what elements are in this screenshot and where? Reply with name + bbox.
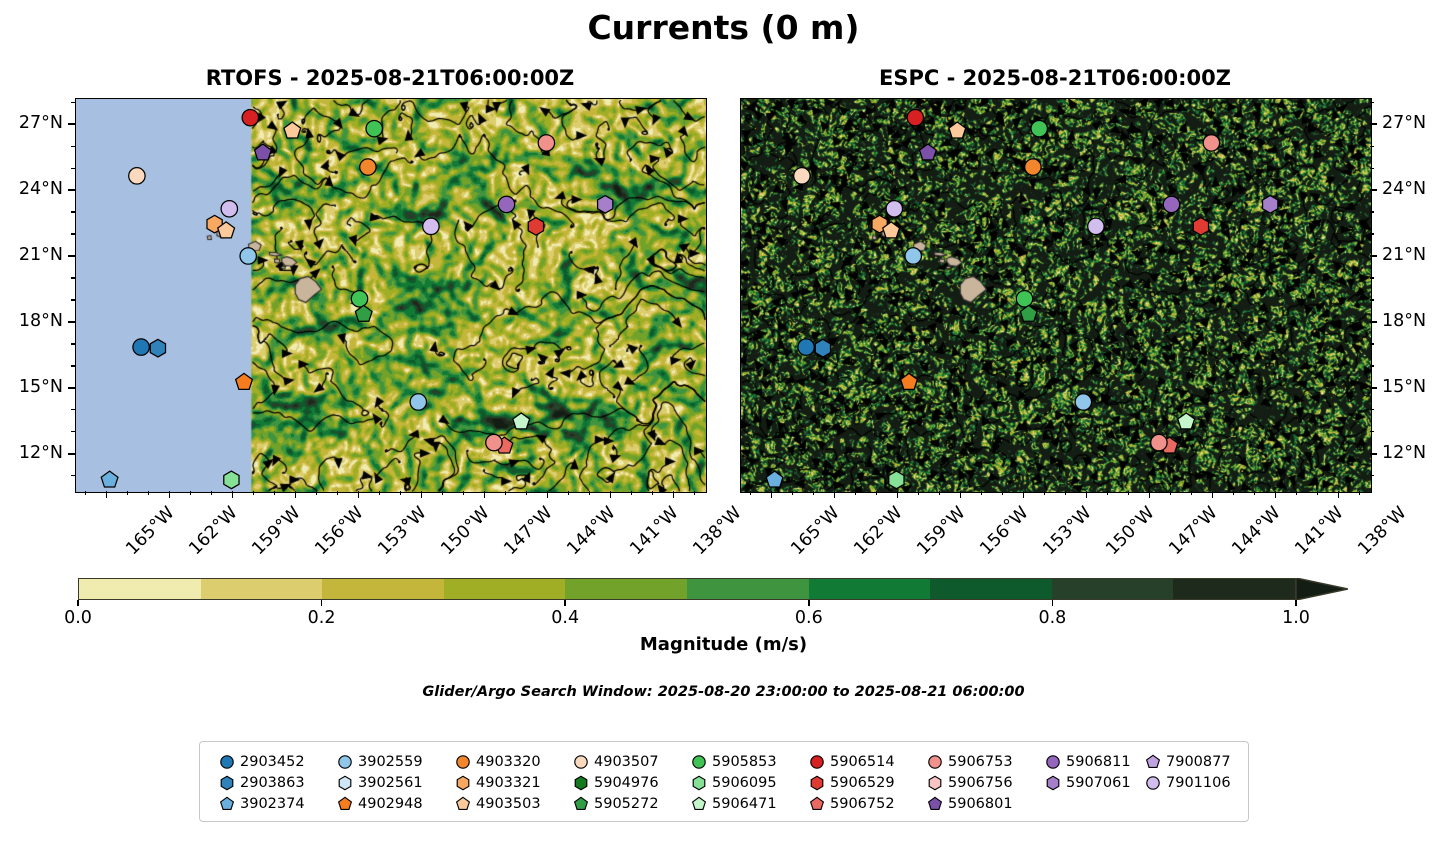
legend-label: 5906753 — [948, 754, 1013, 770]
y-minor-tickmark — [71, 211, 75, 212]
x-tick-label: 156°W — [976, 503, 1032, 559]
x-tick-label: 165°W — [122, 503, 178, 559]
pentagon-marker-icon — [336, 795, 354, 813]
legend-entry[interactable]: 7900877 — [1140, 751, 1240, 772]
float-marker[interactable] — [1193, 218, 1208, 236]
colorbar-gradient — [78, 578, 1296, 600]
circle-marker-icon — [1044, 753, 1062, 771]
colorbar-tick-label: 0.8 — [1034, 608, 1070, 628]
legend-label: 5905853 — [712, 754, 777, 770]
legend-entry[interactable]: 5906811 — [1040, 751, 1140, 772]
x-tick-label: 144°W — [1228, 503, 1284, 559]
colorbar-extend-arrow — [1296, 578, 1348, 600]
float-marker[interactable] — [1031, 120, 1047, 136]
x-minor-tickmark — [85, 491, 86, 495]
x-minor-tickmark — [211, 491, 212, 495]
float-marker[interactable] — [486, 434, 502, 450]
colorbar-segment — [201, 579, 323, 599]
y-tickmark — [68, 453, 75, 455]
x-minor-tickmark — [1359, 491, 1360, 495]
y-minor-tickmark — [1370, 146, 1374, 147]
x-minor-tickmark — [813, 491, 814, 495]
x-tickmark — [547, 491, 549, 498]
legend-symbol — [922, 774, 948, 792]
circle-marker-icon — [572, 753, 590, 771]
x-minor-tickmark — [981, 491, 982, 495]
hexagon-marker-icon — [1044, 774, 1062, 792]
pentagon-marker-icon — [454, 795, 472, 813]
legend-label: 3902561 — [358, 775, 423, 791]
x-minor-tickmark — [127, 491, 128, 495]
pentagon-marker-icon — [572, 795, 590, 813]
legend-entry[interactable]: 5905853 — [686, 751, 804, 772]
y-tickmark — [68, 321, 75, 323]
figure-suptitle: Currents (0 m) — [0, 8, 1447, 47]
x-minor-tickmark — [190, 491, 191, 495]
float-marker[interactable] — [1016, 291, 1032, 307]
colorbar-segment — [930, 579, 1052, 599]
legend-symbol — [1140, 753, 1166, 771]
y-minor-tickmark — [71, 431, 75, 432]
legend-symbol — [686, 753, 712, 771]
legend-entry[interactable]: 2903452 — [214, 751, 332, 772]
legend-label: 5906095 — [712, 775, 777, 791]
float-marker[interactable] — [1163, 196, 1179, 212]
legend-entry[interactable]: 4903507 — [568, 751, 686, 772]
x-tick-label: 138°W — [689, 503, 745, 559]
legend-label: 5907061 — [1066, 775, 1131, 791]
panel-title-espc: ESPC - 2025-08-21T06:00:00Z — [740, 66, 1370, 90]
x-minor-tickmark — [1065, 491, 1066, 495]
x-minor-tickmark — [1296, 491, 1297, 495]
legend-label: 4903320 — [476, 754, 541, 770]
pentagon-marker-icon — [218, 795, 236, 813]
float-marker[interactable] — [1088, 218, 1104, 234]
hexagon-marker-icon — [808, 774, 826, 792]
y-tick-label: 21°N — [1382, 245, 1426, 265]
float-marker[interactable] — [1203, 135, 1219, 151]
legend-symbol — [332, 774, 358, 792]
legend-label: 5906756 — [948, 775, 1013, 791]
y-tick-label: 18°N — [1382, 311, 1426, 331]
y-tick-label: 12°N — [0, 443, 63, 463]
legend-symbol — [568, 795, 594, 813]
x-tick-label: 147°W — [500, 503, 556, 559]
y-tickmark — [68, 387, 75, 389]
y-minor-tickmark — [71, 102, 75, 103]
legend-column: 290345229038633902374 — [214, 751, 332, 814]
legend-entry[interactable]: 5906753 — [922, 751, 1040, 772]
colorbar-segment — [809, 579, 931, 599]
circle-marker-icon — [454, 753, 472, 771]
y-tick-label: 15°N — [0, 377, 63, 397]
circle-marker-icon — [690, 753, 708, 771]
colorbar-tick-label: 0.0 — [60, 608, 96, 628]
legend-symbol — [804, 774, 830, 792]
float-marker[interactable] — [889, 471, 904, 489]
hexagon-marker-icon — [454, 774, 472, 792]
x-tickmark — [1023, 491, 1025, 498]
x-minor-tickmark — [1170, 491, 1171, 495]
float-marker-layer — [741, 99, 1371, 492]
x-minor-tickmark — [1191, 491, 1192, 495]
legend-entry[interactable]: 5906529 — [804, 772, 922, 793]
legend-entry[interactable]: 5904976 — [568, 772, 686, 793]
x-minor-tickmark — [463, 491, 464, 495]
pentagon-marker-icon — [1144, 753, 1162, 771]
legend-symbol — [332, 795, 358, 813]
x-tick-label: 147°W — [1165, 503, 1221, 559]
float-marker[interactable] — [1178, 413, 1195, 429]
legend-symbol — [922, 795, 948, 813]
y-minor-tickmark — [71, 146, 75, 147]
legend-column: 490332049033214903503 — [450, 751, 568, 814]
x-tick-label: 162°W — [185, 503, 241, 559]
x-tickmark — [673, 491, 675, 498]
legend-label: 5906752 — [830, 796, 895, 812]
y-minor-tickmark — [71, 299, 75, 300]
legend-label: 2903863 — [240, 775, 305, 791]
legend-entry[interactable]: 4903503 — [450, 793, 568, 814]
legend-entry[interactable]: 2903863 — [214, 772, 332, 793]
legend-column: 79008777901106 — [1140, 751, 1240, 814]
float-marker[interactable] — [1020, 305, 1037, 321]
x-tickmark — [106, 491, 108, 498]
float-marker[interactable] — [360, 159, 376, 175]
legend-entry[interactable]: 5906801 — [922, 793, 1040, 814]
colorbar-tickmark — [808, 600, 810, 606]
legend-label: 4902948 — [358, 796, 423, 812]
float-marker[interactable] — [1075, 394, 1091, 410]
legend-label: 4903503 — [476, 796, 541, 812]
pentagon-marker-icon — [808, 795, 826, 813]
x-tick-label: 156°W — [311, 503, 367, 559]
colorbar-segment — [1173, 579, 1295, 599]
x-minor-tickmark — [316, 491, 317, 495]
float-marker[interactable] — [538, 135, 554, 151]
legend-label: 3902374 — [240, 796, 305, 812]
y-tick-label: 27°N — [1382, 113, 1426, 133]
legend-symbol — [568, 753, 594, 771]
float-marker[interactable] — [815, 339, 830, 357]
float-marker[interactable] — [905, 248, 921, 264]
x-minor-tickmark — [652, 491, 653, 495]
x-tick-label: 141°W — [1291, 503, 1347, 559]
circle-marker-icon — [808, 753, 826, 771]
legend-symbol — [1040, 774, 1066, 792]
float-marker[interactable] — [513, 413, 530, 429]
legend-entry[interactable]: 5906095 — [686, 772, 804, 793]
colorbar-segment — [565, 579, 687, 599]
legend-column: 390255939025614902948 — [332, 751, 450, 814]
legend-symbol — [804, 753, 830, 771]
hexagon-marker-icon — [926, 774, 944, 792]
x-tickmark — [960, 491, 962, 498]
legend-symbol — [214, 774, 240, 792]
float-marker[interactable] — [150, 339, 165, 357]
float-marker-layer — [76, 99, 706, 492]
y-tick-label: 12°N — [1382, 443, 1426, 463]
float-marker[interactable] — [410, 394, 426, 410]
panel-title-rtofs: RTOFS - 2025-08-21T06:00:00Z — [75, 66, 705, 90]
legend-column: 590675359067565906801 — [922, 751, 1040, 814]
float-marker[interactable] — [798, 339, 814, 355]
colorbar-tick-label: 0.2 — [304, 608, 340, 628]
colorbar-tick-label: 0.6 — [791, 608, 827, 628]
x-tickmark — [358, 491, 360, 498]
x-minor-tickmark — [694, 491, 695, 495]
float-marker[interactable] — [101, 471, 118, 487]
y-minor-tickmark — [71, 365, 75, 366]
float-marker[interactable] — [901, 373, 918, 389]
float-marker[interactable] — [221, 201, 237, 217]
y-minor-tickmark — [71, 409, 75, 410]
y-minor-tickmark — [1370, 343, 1374, 344]
float-marker[interactable] — [129, 168, 145, 184]
colorbar-tickmark — [321, 600, 323, 606]
x-minor-tickmark — [274, 491, 275, 495]
x-tickmark — [1149, 491, 1151, 498]
x-tickmark — [295, 491, 297, 498]
y-minor-tickmark — [1370, 102, 1374, 103]
legend-symbol — [1040, 753, 1066, 771]
legend-label: 7900877 — [1166, 754, 1231, 770]
legend-entry[interactable]: 5906752 — [804, 793, 922, 814]
colorbar-tickmark — [77, 600, 79, 606]
x-tickmark — [897, 491, 899, 498]
map-axes-espc — [740, 98, 1372, 493]
x-minor-tickmark — [939, 491, 940, 495]
legend-entry[interactable]: 3902374 — [214, 793, 332, 814]
legend-entry[interactable]: 7901106 — [1140, 772, 1240, 793]
x-tickmark — [484, 491, 486, 498]
legend-grid: 2903452290386339023743902559390256149029… — [214, 751, 1240, 814]
legend-entry[interactable]: 4902948 — [332, 793, 450, 814]
legend-symbol — [450, 795, 476, 813]
x-minor-tickmark — [1317, 491, 1318, 495]
x-tick-label: 150°W — [437, 503, 493, 559]
legend-symbol — [450, 774, 476, 792]
y-minor-tickmark — [1370, 277, 1374, 278]
x-minor-tickmark — [918, 491, 919, 495]
float-marker[interactable] — [133, 339, 149, 355]
search-window-caption: Glider/Argo Search Window: 2025-08-20 23… — [0, 684, 1447, 700]
colorbar-tickmark — [1052, 600, 1054, 606]
colorbar-title: Magnitude (m/s) — [0, 634, 1447, 655]
float-marker[interactable] — [236, 373, 253, 389]
legend-label: 5906471 — [712, 796, 777, 812]
legend-entry[interactable]: 5906471 — [686, 793, 804, 814]
float-marker[interactable] — [355, 305, 372, 321]
y-minor-tickmark — [1370, 475, 1374, 476]
float-marker[interactable] — [886, 201, 902, 217]
float-marker[interactable] — [351, 291, 367, 307]
x-minor-tickmark — [855, 491, 856, 495]
colorbar-segment — [1052, 579, 1174, 599]
legend-symbol — [686, 795, 712, 813]
x-minor-tickmark — [148, 491, 149, 495]
circle-marker-icon — [218, 753, 236, 771]
y-minor-tickmark — [1370, 299, 1374, 300]
x-minor-tickmark — [337, 491, 338, 495]
legend-symbol — [568, 774, 594, 792]
y-tick-label: 24°N — [1382, 179, 1426, 199]
pentagon-marker-icon — [926, 795, 944, 813]
legend-label: 5904976 — [594, 775, 659, 791]
float-marker[interactable] — [1151, 434, 1167, 450]
hexagon-marker-icon — [218, 774, 236, 792]
colorbar-tick-label: 1.0 — [1278, 608, 1314, 628]
legend-label: 4903321 — [476, 775, 541, 791]
x-minor-tickmark — [1002, 491, 1003, 495]
legend-symbol — [332, 753, 358, 771]
legend-label: 5906514 — [830, 754, 895, 770]
x-tick-label: 159°W — [248, 503, 304, 559]
float-marker[interactable] — [920, 144, 937, 160]
x-tick-label: 150°W — [1102, 503, 1158, 559]
x-minor-tickmark — [589, 491, 590, 495]
legend-column: 59068115907061 — [1040, 751, 1140, 814]
float-marker[interactable] — [255, 144, 272, 160]
legend-entry[interactable]: 5906514 — [804, 751, 922, 772]
colorbar-segment — [687, 579, 809, 599]
figure-canvas: Currents (0 m) RTOFS - 2025-08-21T06:00:… — [0, 0, 1447, 863]
legend-label: 7901106 — [1166, 775, 1231, 791]
y-tick-label: 15°N — [1382, 377, 1426, 397]
y-tickmark — [68, 189, 75, 191]
pentagon-marker-icon — [690, 795, 708, 813]
hexagon-marker-icon — [336, 774, 354, 792]
x-tick-label: 159°W — [913, 503, 969, 559]
legend-symbol — [922, 753, 948, 771]
x-tick-label: 153°W — [1039, 503, 1095, 559]
y-minor-tickmark — [71, 343, 75, 344]
y-tick-label: 24°N — [0, 179, 63, 199]
y-minor-tickmark — [71, 277, 75, 278]
x-minor-tickmark — [1107, 491, 1108, 495]
x-tick-label: 141°W — [626, 503, 682, 559]
x-minor-tickmark — [876, 491, 877, 495]
y-minor-tickmark — [1370, 409, 1374, 410]
legend-entry[interactable]: 4903320 — [450, 751, 568, 772]
legend-label: 2903452 — [240, 754, 305, 770]
legend-column: 590585359060955906471 — [686, 751, 804, 814]
legend-entry[interactable]: 4903321 — [450, 772, 568, 793]
y-tickmark — [1370, 255, 1377, 257]
y-minor-tickmark — [1370, 233, 1374, 234]
y-tickmark — [68, 123, 75, 125]
float-marker[interactable] — [598, 196, 613, 214]
x-tickmark — [1086, 491, 1088, 498]
float-marker[interactable] — [240, 248, 256, 264]
x-tick-label: 162°W — [850, 503, 906, 559]
y-tick-label: 21°N — [0, 245, 63, 265]
y-tickmark — [1370, 123, 1377, 125]
x-tick-label: 138°W — [1354, 503, 1410, 559]
float-marker[interactable] — [498, 196, 514, 212]
colorbar-tickmark — [564, 600, 566, 606]
colorbar — [78, 578, 1296, 600]
float-marker[interactable] — [1263, 196, 1278, 214]
y-tickmark — [1370, 387, 1377, 389]
float-marker[interactable] — [528, 218, 543, 236]
x-tick-label: 153°W — [374, 503, 430, 559]
y-tick-label: 18°N — [0, 311, 63, 331]
y-minor-tickmark — [71, 168, 75, 169]
float-marker[interactable] — [1025, 159, 1041, 175]
float-marker[interactable] — [284, 122, 301, 138]
float-marker[interactable] — [423, 218, 439, 234]
legend-label: 5906811 — [1066, 754, 1131, 770]
y-tickmark — [1370, 189, 1377, 191]
x-minor-tickmark — [568, 491, 569, 495]
x-minor-tickmark — [505, 491, 506, 495]
y-minor-tickmark — [71, 475, 75, 476]
x-tickmark — [421, 491, 423, 498]
legend-label: 5906529 — [830, 775, 895, 791]
x-tickmark — [1212, 491, 1214, 498]
circle-marker-icon — [1144, 774, 1162, 792]
x-minor-tickmark — [750, 491, 751, 495]
x-tick-label: 144°W — [563, 503, 619, 559]
legend-symbol — [804, 795, 830, 813]
float-marker[interactable] — [366, 120, 382, 136]
x-tickmark — [169, 491, 171, 498]
circle-marker-icon — [926, 753, 944, 771]
x-minor-tickmark — [631, 491, 632, 495]
x-tickmark — [771, 491, 773, 498]
legend-entry[interactable]: 5905272 — [568, 793, 686, 814]
x-minor-tickmark — [1233, 491, 1234, 495]
legend-entry[interactable]: 3902561 — [332, 772, 450, 793]
x-minor-tickmark — [379, 491, 380, 495]
legend-column: 490350759049765905272 — [568, 751, 686, 814]
x-tick-label: 165°W — [787, 503, 843, 559]
legend-symbol — [214, 753, 240, 771]
float-marker[interactable] — [794, 168, 810, 184]
y-minor-tickmark — [71, 233, 75, 234]
float-marker[interactable] — [949, 122, 966, 138]
y-tickmark — [1370, 453, 1377, 455]
legend-label: 4903507 — [594, 754, 659, 770]
x-minor-tickmark — [1044, 491, 1045, 495]
map-axes-rtofs — [75, 98, 707, 493]
legend-symbol — [450, 753, 476, 771]
legend-entry[interactable]: 5906756 — [922, 772, 1040, 793]
x-minor-tickmark — [1128, 491, 1129, 495]
float-marker[interactable] — [224, 471, 239, 489]
float-marker[interactable] — [766, 471, 783, 487]
legend-column: 590651459065295906752 — [804, 751, 922, 814]
legend-entry[interactable]: 3902559 — [332, 751, 450, 772]
x-minor-tickmark — [442, 491, 443, 495]
colorbar-segment — [444, 579, 566, 599]
y-minor-tickmark — [1370, 168, 1374, 169]
float-marker[interactable] — [907, 109, 923, 125]
y-tick-label: 27°N — [0, 113, 63, 133]
x-minor-tickmark — [253, 491, 254, 495]
x-minor-tickmark — [400, 491, 401, 495]
legend-label: 3902559 — [358, 754, 423, 770]
y-tickmark — [68, 255, 75, 257]
x-tickmark — [834, 491, 836, 498]
x-minor-tickmark — [526, 491, 527, 495]
colorbar-segment — [79, 579, 201, 599]
float-id-legend: 2903452290386339023743902559390256149029… — [199, 741, 1249, 822]
float-marker[interactable] — [242, 109, 258, 125]
legend-entry[interactable]: 5907061 — [1040, 772, 1140, 793]
legend-symbol — [214, 795, 240, 813]
